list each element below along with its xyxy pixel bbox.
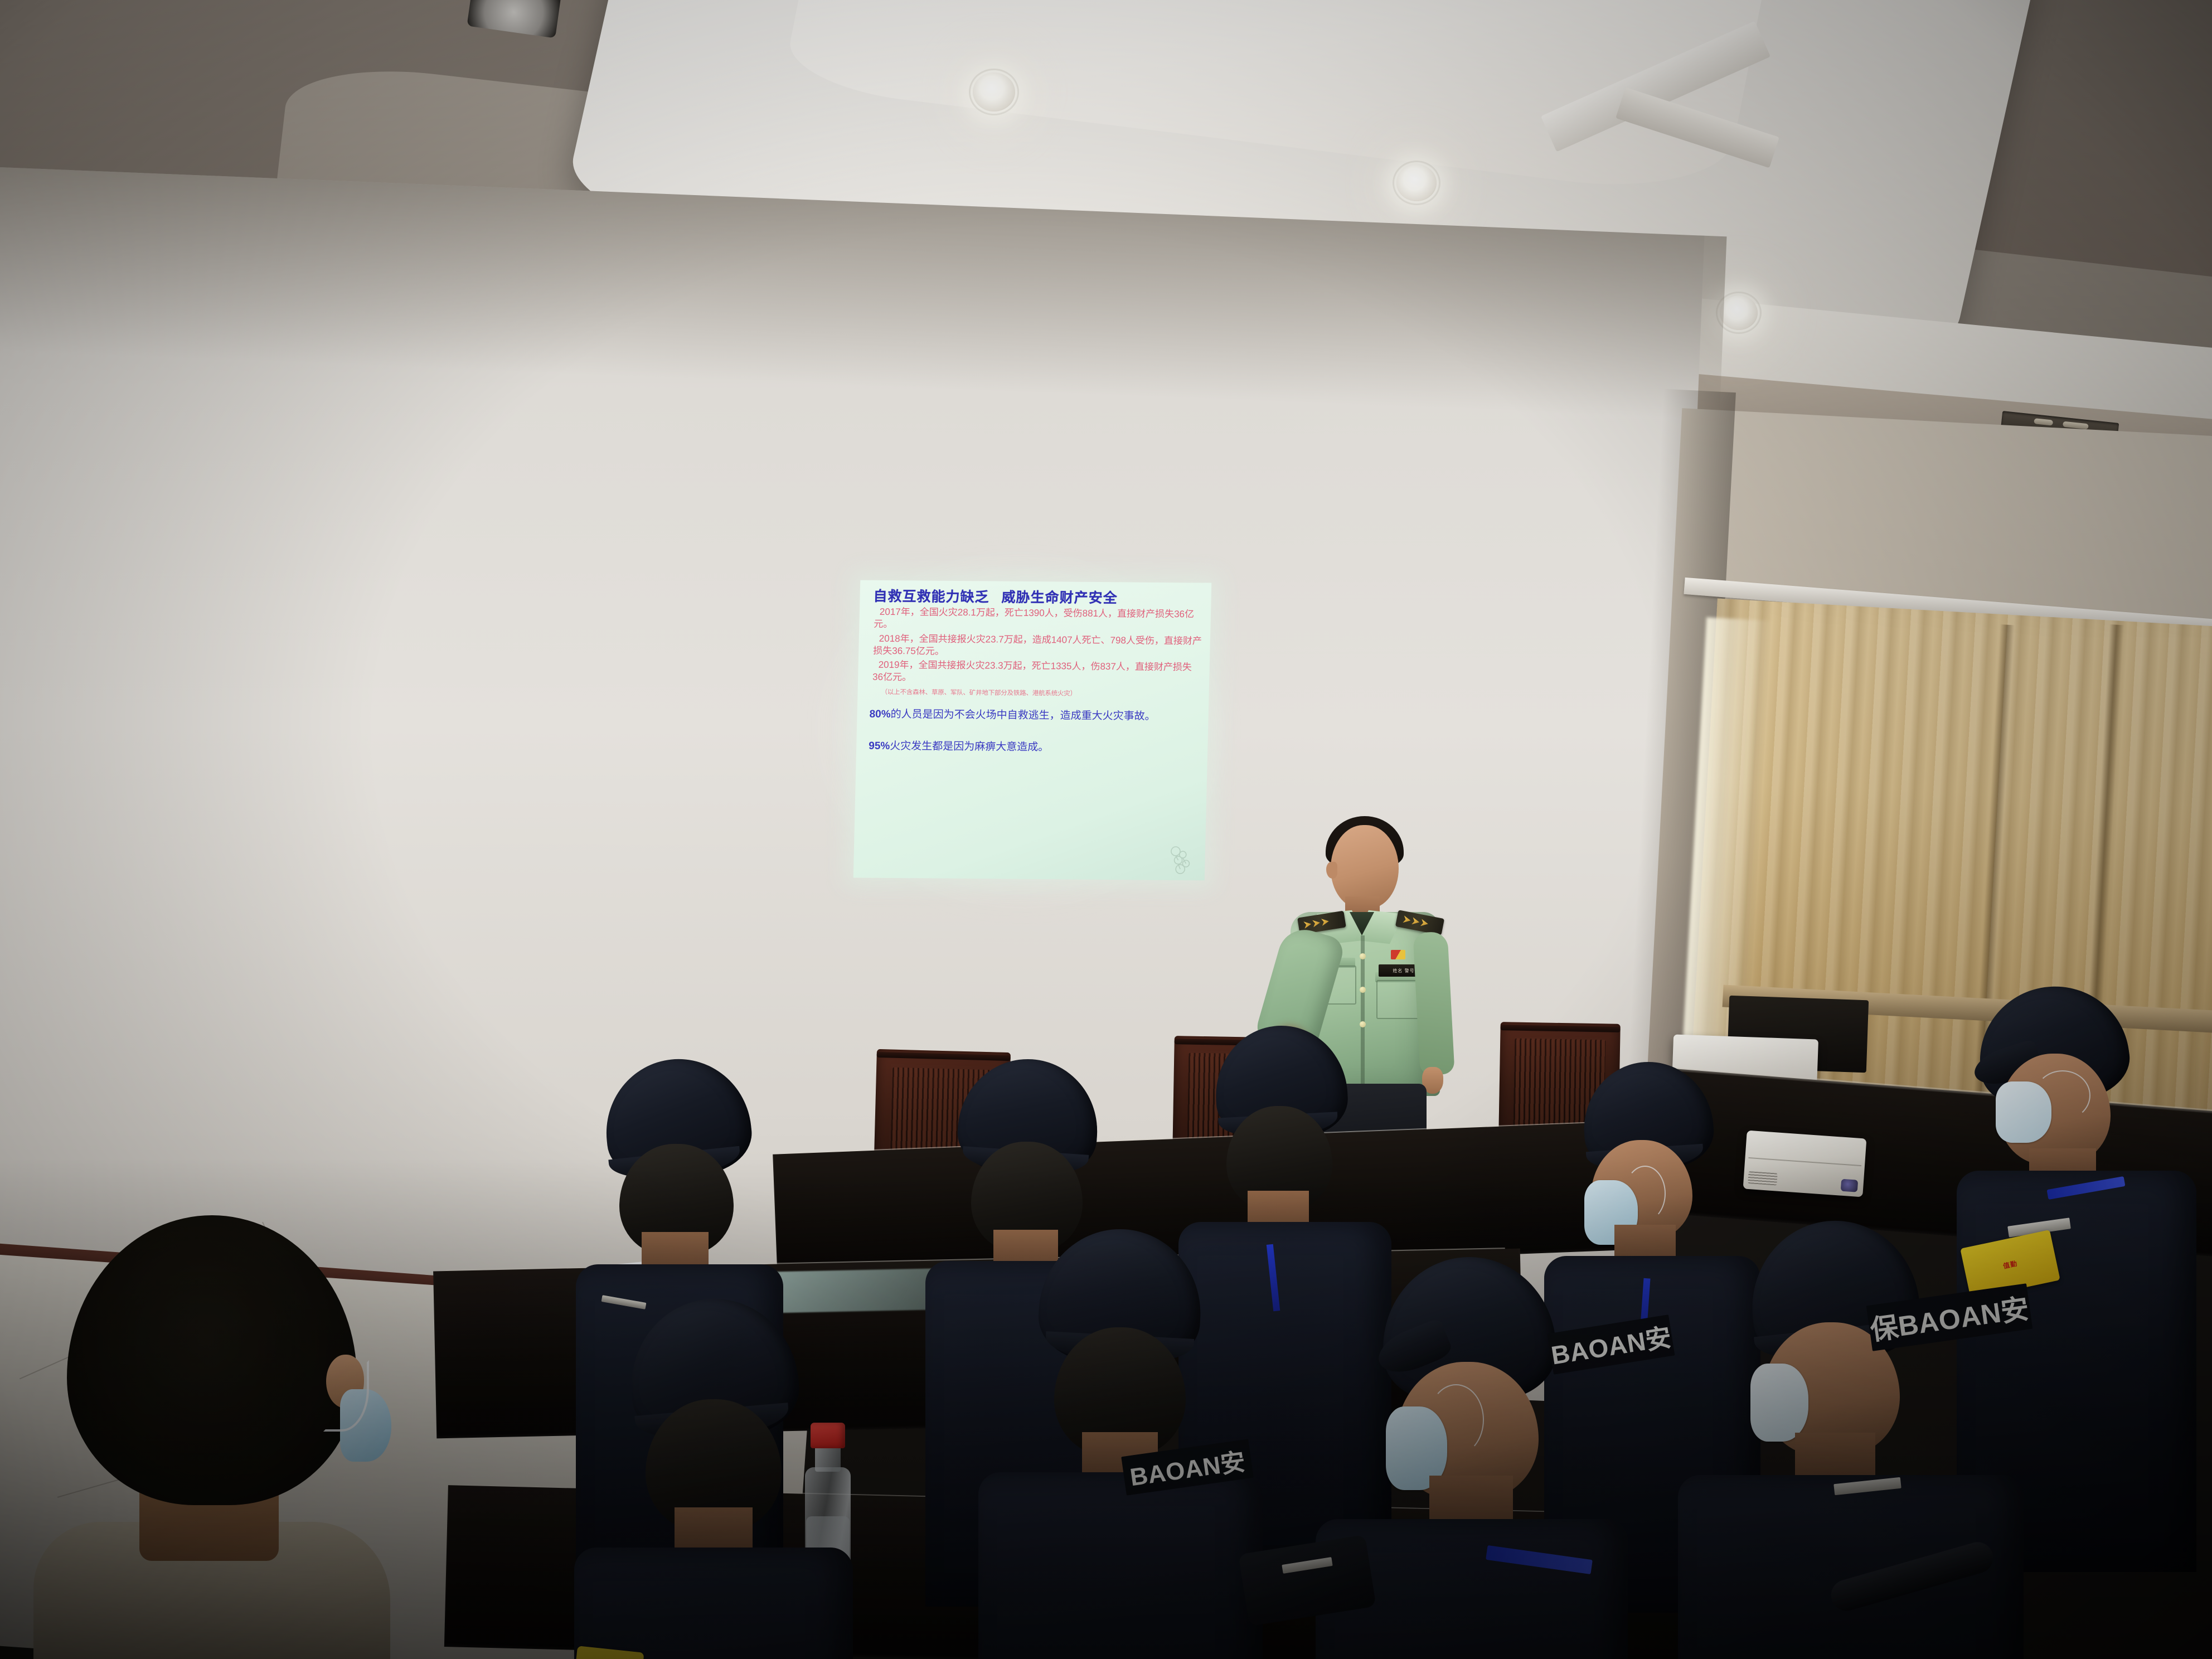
slide-stat-2017: 2017年，全国火灾28.1万起，死亡1390人，受伤881人，直接财产损失36… xyxy=(874,606,1203,633)
presenter-arm-right xyxy=(1413,932,1454,1076)
projected-slide: 自救互救能力缺乏 威胁生命财产安全 2017年，全国火灾28.1万起，死亡139… xyxy=(853,580,1212,881)
guard-torso xyxy=(978,1472,1263,1659)
presenter-button xyxy=(1360,953,1366,959)
presenter-flag-badge xyxy=(1391,950,1405,959)
projector-lens-icon xyxy=(1841,1179,1858,1192)
slide-highlight-80-text: 的人员是因为不会火场中自救逃生，造成重大火灾事故。 xyxy=(890,709,1156,722)
slide-stat-2019: 2019年，全国共接报火灾23.3万起，死亡1335人，伤837人，直接财产损失… xyxy=(872,659,1202,686)
slide-title: 自救互救能力缺乏 威胁生命财产安全 xyxy=(873,589,1204,607)
slide-highlight-80-pct: 80% xyxy=(869,708,891,720)
bottle-cap[interactable] xyxy=(811,1423,845,1448)
projector-device[interactable] xyxy=(1743,1131,1867,1197)
meeting-room-photo: 自救互救能力缺乏 威胁生命财产安全 2017年，全国火灾28.1万起，死亡139… xyxy=(0,0,2212,1659)
downlight-icon-2 xyxy=(1396,164,1437,201)
slide-stat-2018: 2018年，全国共接报火灾23.7万起，造成1407人死亡、798人受伤，直接财… xyxy=(873,633,1202,659)
presenter-ear xyxy=(1326,862,1337,879)
mask-strap-icon xyxy=(2035,1070,2090,1120)
slide-highlight-80: 80%的人员是因为不会火场中自救逃生，造成重大火灾事故。 xyxy=(869,707,1201,723)
downlight-icon-1 xyxy=(973,72,1015,111)
mask-strap-icon xyxy=(1624,1166,1666,1221)
slide-highlight-95: 95%火灾发生都是因为麻痹大意造成。 xyxy=(869,740,1200,755)
projector-vent-icon xyxy=(1748,1171,1777,1186)
presenter-button xyxy=(1360,1021,1366,1027)
downlight-icon-3 xyxy=(1720,295,1758,330)
bottle-neck xyxy=(815,1446,841,1472)
slide-footnote: （以上不含森林、草原、军队、矿井地下部分及铁路、港航系统火灾） xyxy=(881,689,1201,699)
presenter-button xyxy=(1360,987,1366,993)
mask-strap-icon xyxy=(1428,1384,1484,1456)
slide-highlight-95-text: 火灾发生都是因为麻痹大意造成。 xyxy=(890,740,1049,753)
slide-statistics: 2017年，全国火灾28.1万起，死亡1390人，受伤881人，直接财产损失36… xyxy=(867,606,1203,755)
slide-watermark-icon xyxy=(1166,843,1195,876)
guard-torso xyxy=(574,1548,853,1659)
slide-highlight-95-pct: 95% xyxy=(869,740,890,752)
presenter-shirt-placket xyxy=(1361,935,1365,1096)
face-mask xyxy=(1750,1364,1808,1442)
